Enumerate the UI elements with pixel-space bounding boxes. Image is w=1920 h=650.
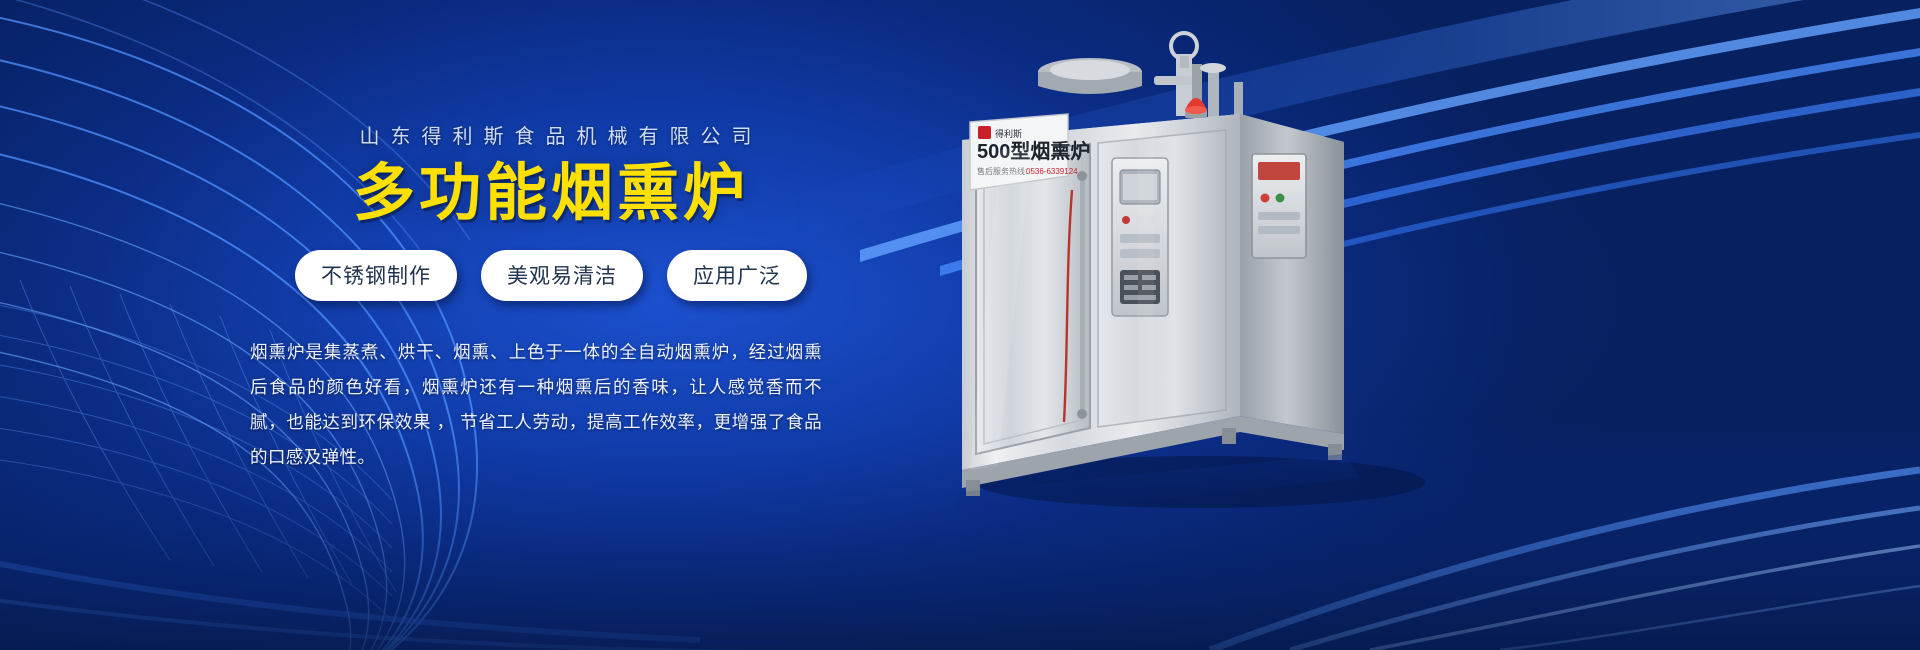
power-indicator: [1122, 216, 1130, 224]
page-title: 多功能烟熏炉: [250, 161, 830, 228]
electrical-box[interactable]: [1252, 154, 1306, 258]
feature-pill-stainless[interactable]: 不锈钢制作: [295, 250, 457, 301]
warning-plate: [1258, 162, 1300, 180]
door-handle[interactable]: [1080, 180, 1085, 410]
hero-banner: 山东得利斯食品机械有限公司 多功能烟熏炉 不锈钢制作 美观易清洁 应用广泛 烟熏…: [0, 0, 1920, 650]
product-description: 烟熏炉是集蒸煮、烘干、烟熏、上色于一体的全自动烟熏炉，经过烟熏后食品的颜色好看，…: [250, 335, 822, 475]
brand-logo-icon: [978, 126, 991, 139]
service-phone-text: 0536-6339124: [1026, 167, 1078, 176]
feature-pill-wide-use[interactable]: 应用广泛: [667, 250, 807, 301]
model-sign-text: 500型烟熏炉: [977, 139, 1090, 163]
hero-text-column: 山东得利斯食品机械有限公司 多功能烟熏炉 不锈钢制作 美观易清洁 应用广泛 烟熏…: [250, 120, 830, 475]
smokehouse-oven-illustration: 得利斯 500型烟熏炉 售后服务热线： 0536-6339124: [940, 30, 1500, 530]
product-photo: 得利斯 500型烟熏炉 售后服务热线： 0536-6339124: [940, 30, 1500, 530]
feature-pill-row: 不锈钢制作 美观易清洁 应用广泛: [250, 250, 830, 301]
feature-pill-easy-clean[interactable]: 美观易清洁: [481, 250, 643, 301]
company-name: 山东得利斯食品机械有限公司: [250, 120, 830, 149]
roof-fittings: [1038, 33, 1243, 118]
brand-mark-text: 得利斯: [995, 128, 1022, 139]
